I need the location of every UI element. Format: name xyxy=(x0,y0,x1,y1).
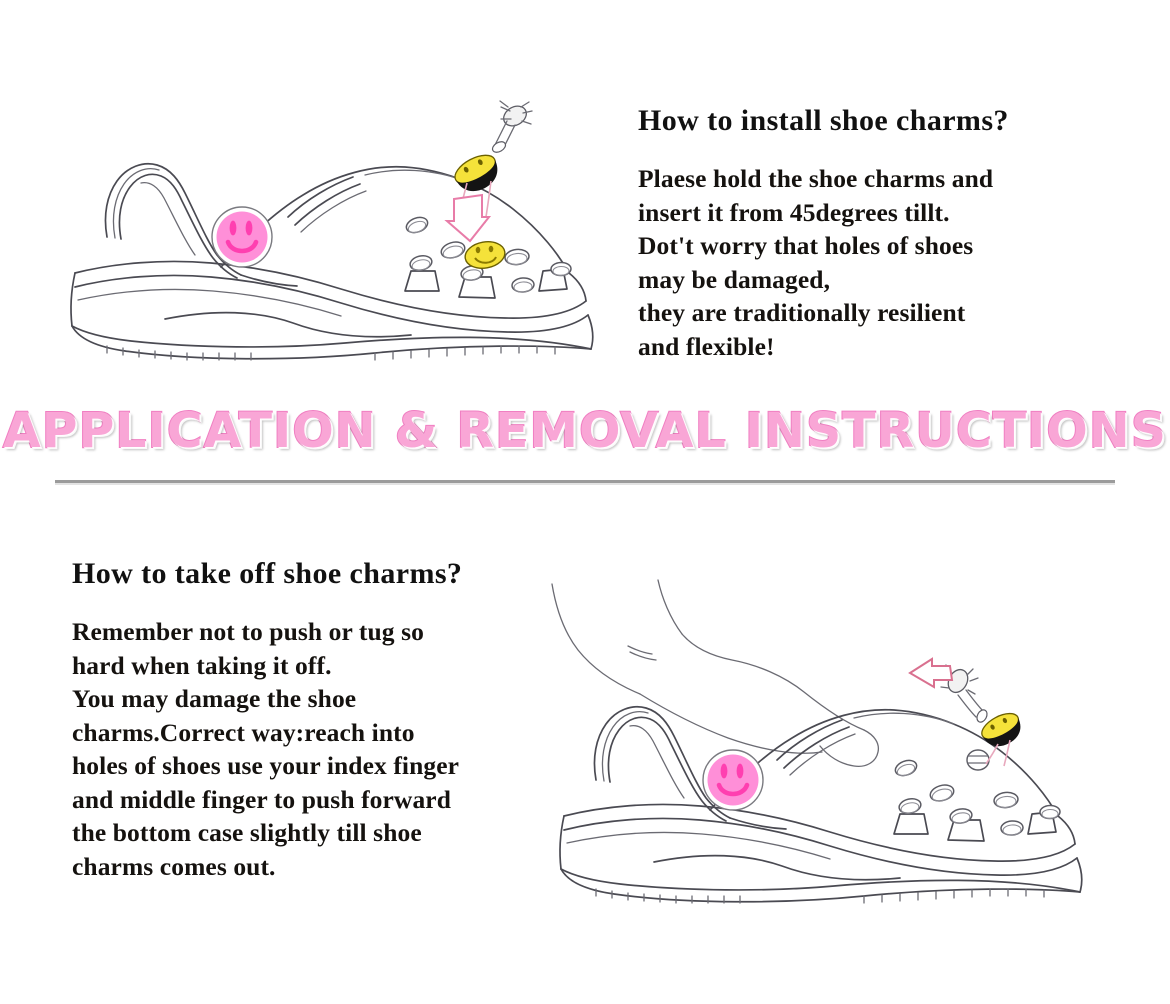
install-line-5: they are traditionally resilient xyxy=(638,296,1108,330)
install-line-6: and flexible! xyxy=(638,330,1108,364)
install-text-block: How to install shoe charms? Plaese hold … xyxy=(638,104,1108,363)
install-illustration xyxy=(45,95,635,365)
clog-shoe-with-hand-svg xyxy=(530,580,1130,910)
removal-body: Remember not to push or tug so hard when… xyxy=(72,615,572,883)
install-heading: How to install shoe charms? xyxy=(638,104,1108,138)
install-section: How to install shoe charms? Plaese hold … xyxy=(0,0,1170,395)
hand-reaching-into-shoe-icon xyxy=(552,580,878,766)
charm-back-peg-icon xyxy=(491,101,532,154)
charm-disc-tilted-icon xyxy=(451,149,505,198)
install-line-2: insert it from 45degrees tillt. xyxy=(638,196,1108,230)
charm-peg-in-hole-icon xyxy=(967,750,989,770)
removal-line-3: You may damage the shoe xyxy=(72,682,572,716)
divider-rule xyxy=(55,480,1115,483)
removal-line-1: Remember not to push or tug so xyxy=(72,615,572,649)
clog-shoe-side-view-svg xyxy=(45,95,635,365)
charm-removal-diagram xyxy=(910,659,1027,766)
removal-line-6: and middle finger to push forward xyxy=(72,783,572,817)
removal-text-block: How to take off shoe charms? Remember no… xyxy=(72,557,572,883)
removal-line-5: holes of shoes use your index finger xyxy=(72,749,572,783)
insert-arrow-down-icon xyxy=(447,195,489,241)
removal-illustration xyxy=(530,580,1130,910)
install-line-1: Plaese hold the shoe charms and xyxy=(638,162,1108,196)
removal-line-7: the bottom case slightly till shoe xyxy=(72,816,572,850)
removal-section: How to take off shoe charms? Remember no… xyxy=(0,495,1170,1004)
pink-smiley-charm xyxy=(212,207,272,267)
removal-arrow-left-icon xyxy=(910,659,952,687)
removal-heading: How to take off shoe charms? xyxy=(72,557,572,591)
removal-line-8: charms comes out. xyxy=(72,850,572,884)
removal-line-2: hard when taking it off. xyxy=(72,649,572,683)
charm-insert-diagram xyxy=(447,101,532,241)
pink-smiley-charm xyxy=(703,750,763,810)
install-body: Plaese hold the shoe charms and insert i… xyxy=(638,162,1108,363)
removal-line-4: charms.Correct way:reach into xyxy=(72,716,572,750)
install-line-3: Dot't worry that holes of shoes xyxy=(638,229,1108,263)
install-line-4: may be damaged, xyxy=(638,263,1108,297)
banner-strip: APPLICATION & REMOVAL INSTRUCTIONS xyxy=(0,398,1170,490)
banner-title: APPLICATION & REMOVAL INSTRUCTIONS xyxy=(0,398,1170,464)
